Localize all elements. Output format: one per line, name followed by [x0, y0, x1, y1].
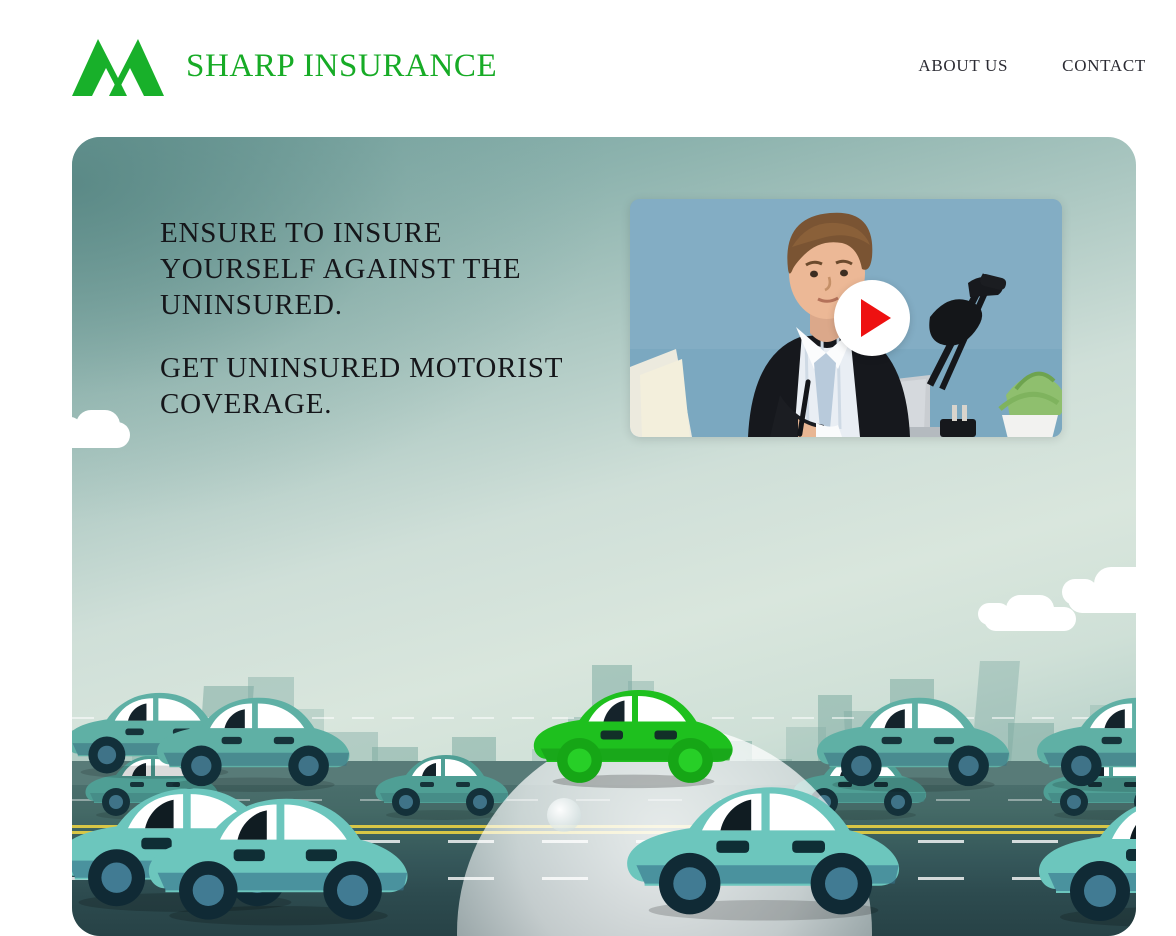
- hero-headline-secondary: GET UNINSURED MOTORIST COVERAGE.: [160, 350, 590, 422]
- nav-item-contact[interactable]: CONTACT: [1062, 56, 1146, 76]
- play-triangle-icon: [861, 299, 891, 337]
- traffic-car: [620, 775, 907, 923]
- hero-copy: ENSURE TO INSURE YOURSELF AGAINST THE UN…: [160, 215, 590, 422]
- hero-video-card[interactable]: [630, 199, 1062, 437]
- brand-name: SHARP INSURANCE: [186, 48, 497, 85]
- hero-headline-primary: ENSURE TO INSURE YOURSELF AGAINST THE UN…: [160, 215, 590, 323]
- dome-highlight-bubble: [547, 798, 581, 832]
- main-nav: ABOUT US CONTACT: [918, 56, 1146, 76]
- traffic-car: [1032, 785, 1136, 929]
- hero-banner: ENSURE TO INSURE YOURSELF AGAINST THE UN…: [72, 137, 1136, 936]
- site-header: SHARP INSURANCE ABOUT US CONTACT: [0, 0, 1176, 137]
- play-button[interactable]: [834, 280, 910, 356]
- insured-green-car: [527, 681, 740, 789]
- traffic-car: [142, 787, 415, 927]
- brand-logo[interactable]: SHARP INSURANCE: [72, 36, 497, 96]
- traffic-car: [1032, 689, 1136, 793]
- nav-item-about-us[interactable]: ABOUT US: [918, 56, 1008, 76]
- mountain-m-logo-icon: [72, 36, 164, 96]
- landing-page: SHARP INSURANCE ABOUT US CONTACT: [0, 0, 1176, 936]
